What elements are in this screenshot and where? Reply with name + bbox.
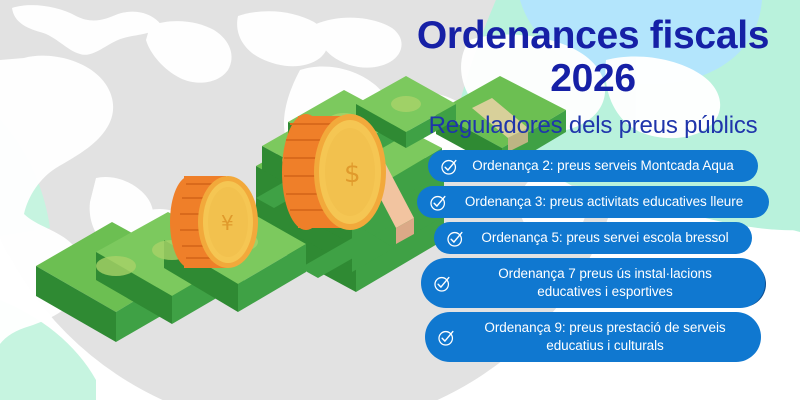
svg-text:¥: ¥ xyxy=(221,211,234,235)
list-item-label: Ordenança 9: preus prestació de serveis … xyxy=(465,319,745,355)
list-item[interactable]: Ordenança 3: preus activitats educatives… xyxy=(417,186,769,218)
check-circle-icon xyxy=(446,229,465,248)
check-circle-icon xyxy=(437,328,456,347)
list-item[interactable]: Ordenança 9: preus prestació de serveis … xyxy=(425,312,761,362)
check-circle-icon xyxy=(440,157,459,176)
list-row: Ordenança 5: preus servei escola bressol xyxy=(386,222,800,254)
content-column: Ordenances fiscals 2026 Reguladores dels… xyxy=(386,0,800,400)
check-circle-icon xyxy=(433,274,452,293)
gold-coin-dollar: $ xyxy=(282,110,386,230)
list-row: Ordenança 2: preus serveis Montcada Aqua xyxy=(386,150,800,182)
list-item[interactable]: Ordenança 5: preus servei escola bressol xyxy=(434,222,752,254)
list-item-label: Ordenança 7 preus ús instal·lacions educ… xyxy=(461,265,749,301)
list-item-label: Ordenança 2: preus serveis Montcada Aqua xyxy=(468,157,742,175)
ordinance-list: Ordenança 2: preus serveis Montcada Aqua… xyxy=(386,150,800,366)
page-subtitle: Reguladores dels preus públics xyxy=(386,112,800,140)
list-row: Ordenança 9: preus prestació de serveis … xyxy=(386,312,800,362)
poster-canvas: $ ¥ xyxy=(0,0,800,400)
list-item-label: Ordenança 3: preus activitats educatives… xyxy=(457,193,753,211)
page-title: Ordenances fiscals 2026 xyxy=(386,14,800,100)
list-item-label: Ordenança 5: preus servei escola bressol xyxy=(474,229,736,247)
gold-coin-yen: ¥ xyxy=(170,176,258,268)
list-item[interactable]: Ordenança 7 preus ús instal·lacions educ… xyxy=(421,258,765,308)
list-row: Ordenança 3: preus activitats educatives… xyxy=(386,186,800,218)
svg-text:$: $ xyxy=(344,159,361,189)
list-row: Ordenança 7 preus ús instal·lacions educ… xyxy=(386,258,800,308)
check-circle-icon xyxy=(429,193,448,212)
list-item[interactable]: Ordenança 2: preus serveis Montcada Aqua xyxy=(428,150,758,182)
